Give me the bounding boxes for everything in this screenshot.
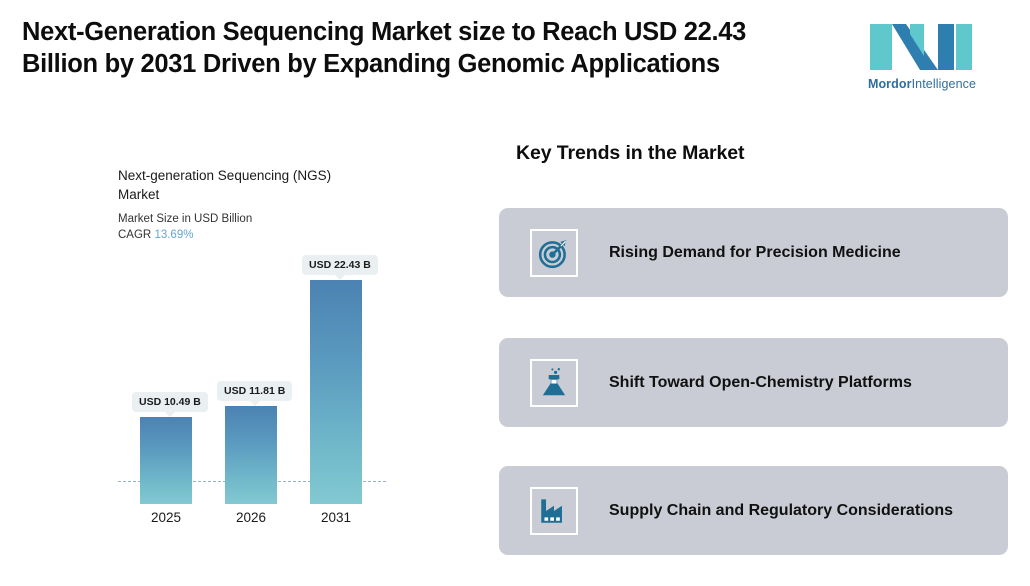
- cagr-label: CAGR: [118, 229, 151, 241]
- factory-icon: [537, 494, 571, 528]
- bar-chart-plot-area: USD 10.49 B USD 11.81 B USD 22.43 B 2025…: [118, 244, 418, 504]
- chart-cagr: CAGR 13.69%: [118, 229, 418, 241]
- factory-icon-box: [530, 487, 578, 535]
- x-axis-tick-2026: 2026: [216, 510, 286, 525]
- logo-word-light: Intelligence: [912, 77, 976, 91]
- trend-card-label: Supply Chain and Regulatory Consideratio…: [609, 498, 953, 524]
- trend-card-label: Shift Toward Open-Chemistry Platforms: [609, 370, 912, 396]
- flask-icon-box: [530, 359, 578, 407]
- key-trends-title: Key Trends in the Market: [516, 142, 744, 165]
- chart-panel: Next-generation Sequencing (NGS) Market …: [118, 166, 418, 566]
- x-axis-tick-2031: 2031: [301, 510, 371, 525]
- mordor-logo-mark: [862, 20, 982, 75]
- chart-title: Next-generation Sequencing (NGS) Market: [118, 166, 363, 204]
- bar-label-2031: USD 22.43 B: [302, 255, 378, 275]
- trend-card-precision-medicine[interactable]: Rising Demand for Precision Medicine: [499, 208, 1008, 297]
- trend-card-supply-chain[interactable]: Supply Chain and Regulatory Consideratio…: [499, 466, 1008, 555]
- page-title: Next-Generation Sequencing Market size t…: [22, 16, 812, 80]
- x-axis-tick-2025: 2025: [131, 510, 201, 525]
- slide-root: Next-Generation Sequencing Market size t…: [0, 0, 1030, 586]
- logo-wordmark: MordorIntelligence: [862, 77, 982, 91]
- trend-card-open-chemistry[interactable]: Shift Toward Open-Chemistry Platforms: [499, 338, 1008, 427]
- trend-card-label: Rising Demand for Precision Medicine: [609, 240, 901, 266]
- target-icon-box: [530, 229, 578, 277]
- bar-label-2025: USD 10.49 B: [132, 392, 208, 412]
- flask-icon: [537, 366, 571, 400]
- mordor-intelligence-logo: MordorIntelligence: [862, 20, 982, 92]
- logo-word-bold: Mordor: [868, 77, 912, 91]
- bar-label-2026: USD 11.81 B: [217, 381, 292, 401]
- cagr-value: 13.69%: [154, 229, 193, 241]
- bar-2026: [225, 406, 277, 504]
- bar-2031: [310, 280, 362, 504]
- bar-2025: [140, 417, 192, 504]
- chart-subtitle: Market Size in USD Billion: [118, 211, 418, 228]
- target-icon: [537, 236, 571, 270]
